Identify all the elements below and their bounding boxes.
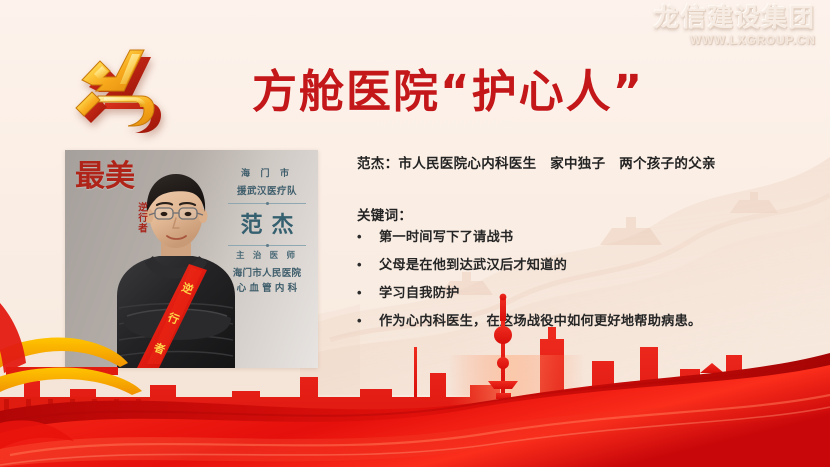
cpc-emblem-icon <box>58 36 180 140</box>
list-item: • 父母是在他到达武汉后才知道的 <box>357 258 819 272</box>
bullet-marker-icon: • <box>357 230 379 244</box>
portrait-photo-card: 逆 行 者 最美 逆行者 海 门 市 援武汉医疗队 范杰 主 治 医 师 海门市… <box>65 150 318 368</box>
page-title: 方舱医院“护心人” <box>252 54 682 120</box>
list-item: • 作为心内科医生，在这场战役中如何更好地帮助病患。 <box>357 314 819 328</box>
keywords-label: 关键词： <box>357 204 412 224</box>
lead-text: 范杰：市人民医院心内科医生 家中独子 两个孩子的父亲 <box>357 152 716 172</box>
list-item: • 学习自我防护 <box>357 286 819 300</box>
brand-logo: 龙信建设集团 WWW.LXGROUP.CN <box>654 6 816 48</box>
list-item-text: 第一时间写下了请战书 <box>379 230 513 244</box>
slide-root: 龙信建设集团 WWW.LXGROUP.CN <box>0 0 830 467</box>
bullet-marker-icon: • <box>357 314 379 328</box>
brand-name: 龙信建设集团 <box>654 6 816 31</box>
keyword-bullet-list: • 第一时间写下了请战书 • 父母是在他到达武汉后才知道的 • 学习自我防护 •… <box>357 230 819 341</box>
brand-url: WWW.LXGROUP.CN <box>654 36 816 48</box>
list-item-text: 父母是在他到达武汉后才知道的 <box>379 258 567 272</box>
bullet-marker-icon: • <box>357 258 379 272</box>
list-item-text: 学习自我防护 <box>379 286 460 300</box>
bullet-marker-icon: • <box>357 286 379 300</box>
list-item-text: 作为心内科医生，在这场战役中如何更好地帮助病患。 <box>379 314 702 328</box>
portrait-subject: 逆 行 者 <box>103 168 253 368</box>
list-item: • 第一时间写下了请战书 <box>357 230 819 244</box>
